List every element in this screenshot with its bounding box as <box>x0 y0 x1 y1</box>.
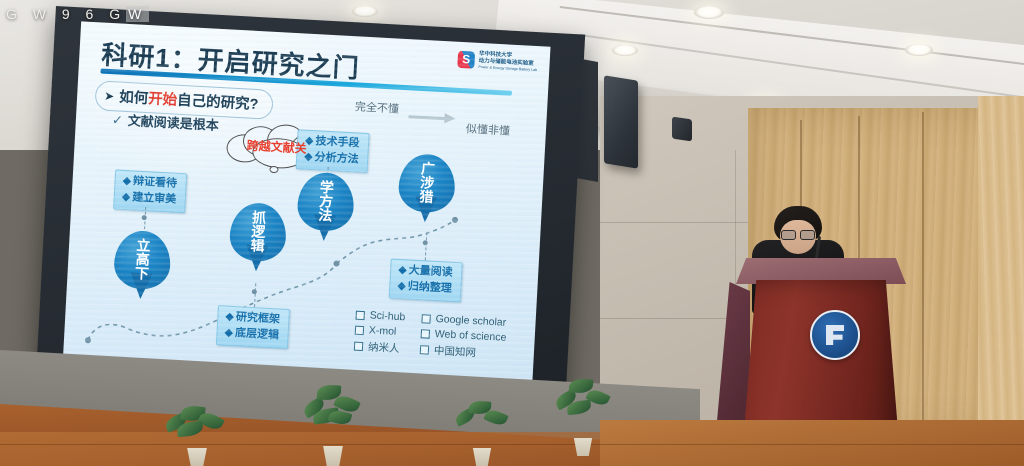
checkbox-icon <box>421 314 430 323</box>
pin-label: 学方法 <box>317 179 334 222</box>
diamond-bullet-icon: ◆ <box>122 175 131 187</box>
arrow-bullet-icon: ➤ <box>104 88 115 103</box>
ceiling-speaker-icon <box>672 117 692 142</box>
cloud-tail-icon <box>269 166 278 173</box>
plant-leaves <box>163 404 231 438</box>
potted-plant <box>162 420 232 466</box>
lab-logo: 华中科技大学 动力与储能电池实验室 Power & Energy Storage… <box>457 50 538 73</box>
connector-dot <box>423 240 428 245</box>
university-emblem-icon <box>810 310 860 360</box>
watermark-text: G W 9 6 G <box>6 6 126 22</box>
question-highlight: 开始 <box>148 91 178 109</box>
pin-label: 立高下 <box>134 238 151 281</box>
slide-subpoint-text: 文献阅读是根本 <box>127 113 219 133</box>
diamond-bullet-icon: ◆ <box>224 327 233 339</box>
lecture-hall-photo: 科研1：开启研究之门 华中科技大学 动力与储能电池实验室 Power & Ene… <box>0 0 1024 466</box>
lab-logo-text: 华中科技大学 动力与储能电池实验室 Power & Energy Storage… <box>478 51 538 72</box>
box-dailiang: ◆大量阅读 ◆归纳整理 <box>389 258 464 302</box>
potted-plant <box>552 398 614 456</box>
list-item: 中国知网 <box>420 342 506 362</box>
plant-pot <box>470 448 494 466</box>
pin-guangshelie: 广涉猎 <box>397 153 456 214</box>
wood-wall-panel-right <box>978 96 1024 426</box>
question-suffix: 自己的研究? <box>177 93 259 113</box>
check-bullet-icon: ✓ <box>112 112 124 128</box>
list-item: 纳米人 <box>354 339 404 357</box>
pin-zhualuoji: 抓逻辑 <box>229 202 288 263</box>
room-floor-right <box>600 420 1024 466</box>
list-item: Sci-hub <box>355 309 405 324</box>
list-item: X-mol <box>355 324 405 339</box>
spectrum-label-right: 似懂非懂 <box>466 120 511 138</box>
plant-leaves <box>301 385 365 429</box>
box-line: ◆建立审美 <box>121 190 178 209</box>
downlight-icon <box>612 45 638 56</box>
plant-pot <box>571 438 595 456</box>
pin-xuefangfa: 学方法 <box>296 171 355 232</box>
diamond-bullet-icon: ◆ <box>398 264 407 276</box>
diamond-bullet-icon: ◆ <box>121 191 130 203</box>
checkbox-icon <box>354 342 363 351</box>
downlight-icon <box>352 6 378 17</box>
plant-pot <box>184 448 210 466</box>
checkbox-icon <box>356 310 365 319</box>
potted-plant <box>300 404 366 466</box>
wall-speaker-icon <box>604 75 638 168</box>
plant-pot <box>320 446 346 466</box>
lab-logo-icon <box>457 50 475 68</box>
checkbox-icon <box>421 329 430 338</box>
pin-label: 抓逻辑 <box>250 210 267 253</box>
watermark: G W 9 6 GW <box>6 6 149 22</box>
presentation-slide: 科研1：开启研究之门 华中科技大学 动力与储能电池实验室 Power & Ene… <box>61 21 550 412</box>
diamond-bullet-icon: ◆ <box>397 280 406 292</box>
watermark-highlight: W <box>126 6 149 22</box>
connector-dot <box>142 215 147 220</box>
downlight-icon <box>905 44 933 56</box>
resource-list-column-1: Sci-hub X-mol 纳米人 <box>353 309 405 360</box>
downlight-icon <box>694 6 724 19</box>
glasses-icon <box>781 230 815 238</box>
spectrum-label-left: 完全不懂 <box>355 98 400 116</box>
resource-list-column-2: Google scholar Web of science 中国知网 <box>419 312 507 365</box>
list-item: Google scholar <box>421 312 507 329</box>
box-bianzheng: ◆辩证看待 ◆建立审美 <box>113 169 188 213</box>
floor-seam <box>0 444 1024 445</box>
connector-line <box>425 232 428 260</box>
spectrum-arrow-icon <box>408 113 458 123</box>
list-item: Web of science <box>421 327 507 344</box>
question-prefix: 如何 <box>119 90 149 108</box>
box-yanjiu: ◆研究框架 ◆底层逻辑 <box>216 305 291 349</box>
checkbox-icon <box>420 345 429 354</box>
pin-label: 广涉猎 <box>419 161 436 204</box>
connector-dot <box>252 289 257 294</box>
diamond-bullet-icon: ◆ <box>225 311 234 323</box>
plant-leaves <box>453 399 511 435</box>
pin-ligaoxia: 立高下 <box>113 230 172 291</box>
connector-line <box>254 283 256 307</box>
box-line: ◆归纳整理 <box>397 279 454 298</box>
plant-leaves <box>553 379 613 421</box>
potted-plant <box>452 414 512 466</box>
box-line: ◆底层逻辑 <box>224 326 281 345</box>
checkbox-icon <box>355 325 364 334</box>
wood-panel-seam <box>922 112 924 436</box>
